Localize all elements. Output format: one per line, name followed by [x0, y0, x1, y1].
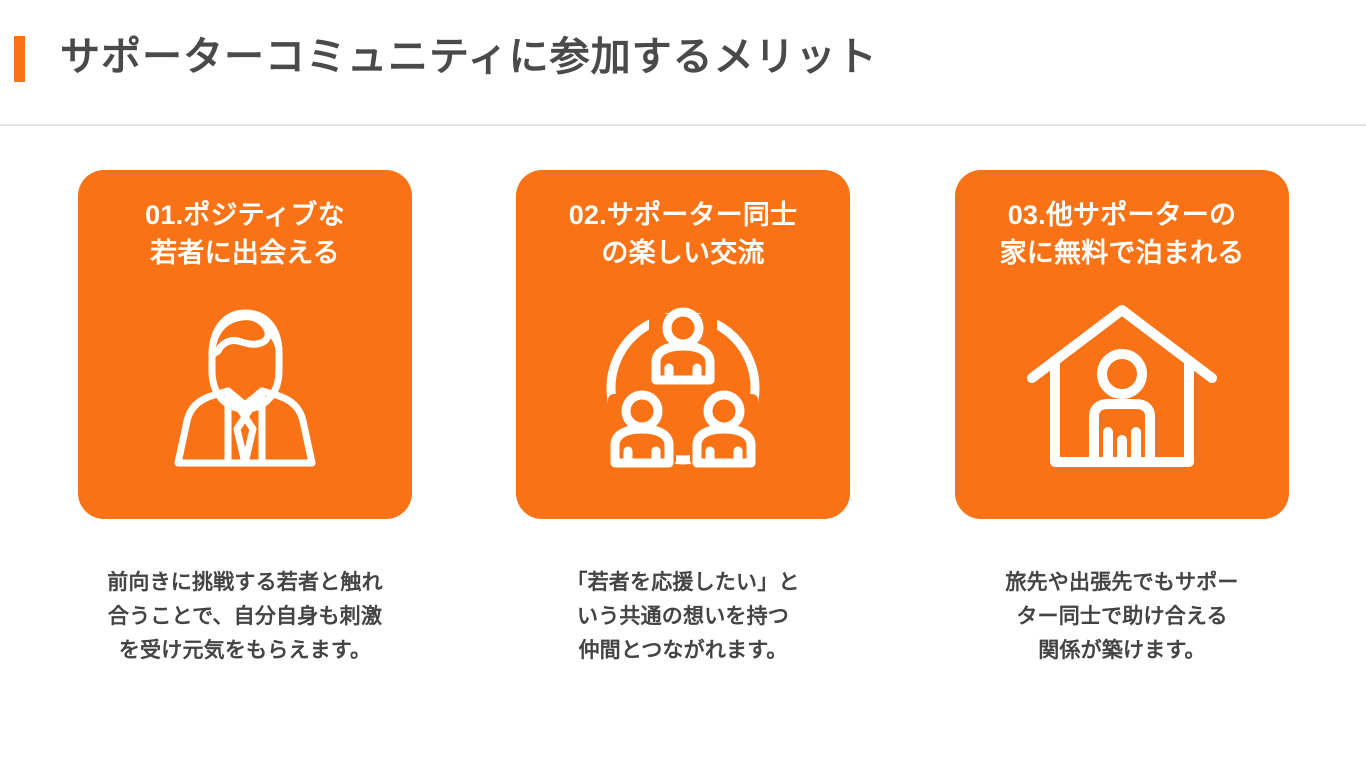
benefit-card-2-caption: 「若者を応援したい」と いう共通の想いを持つ 仲間とつながれます。 [516, 566, 850, 668]
benefit-card-3-caption: 旅先や出張先でもサポー ター同士で助け合える 関係が築けます。 [950, 566, 1294, 668]
benefit-card-1: 01.ポジティブな 若者に出会える [78, 170, 412, 519]
benefit-card-1-title: 01.ポジティブな 若者に出会える [145, 196, 345, 273]
house-with-person-icon [1027, 291, 1217, 481]
benefit-card-2: 02.サポーター同士 の楽しい交流 [516, 170, 850, 519]
benefit-card-1-caption: 前向きに挑戦する若者と触れ 合うことで、自分自身も刺激 を受け元気をもらえます。 [68, 566, 422, 668]
page-title: サポーターコミュニティに参加するメリット [60, 32, 878, 82]
three-people-circle-icon [588, 291, 778, 481]
title-accent-bar [14, 36, 25, 82]
person-in-suit-icon [150, 291, 340, 481]
benefit-card-3-title: 03.他サポーターの 家に無料で泊まれる [1000, 196, 1245, 273]
slide-header: サポーターコミュニティに参加するメリット [0, 0, 1366, 125]
header-divider [0, 124, 1366, 126]
benefit-card-3: 03.他サポーターの 家に無料で泊まれる [955, 170, 1289, 519]
captions-row: 前向きに挑戦する若者と触れ 合うことで、自分自身も刺激 を受け元気をもらえます。… [0, 566, 1366, 696]
benefit-card-2-title: 02.サポーター同士 の楽しい交流 [569, 196, 798, 273]
benefit-cards-row: 01.ポジティブな 若者に出会える [0, 170, 1366, 520]
